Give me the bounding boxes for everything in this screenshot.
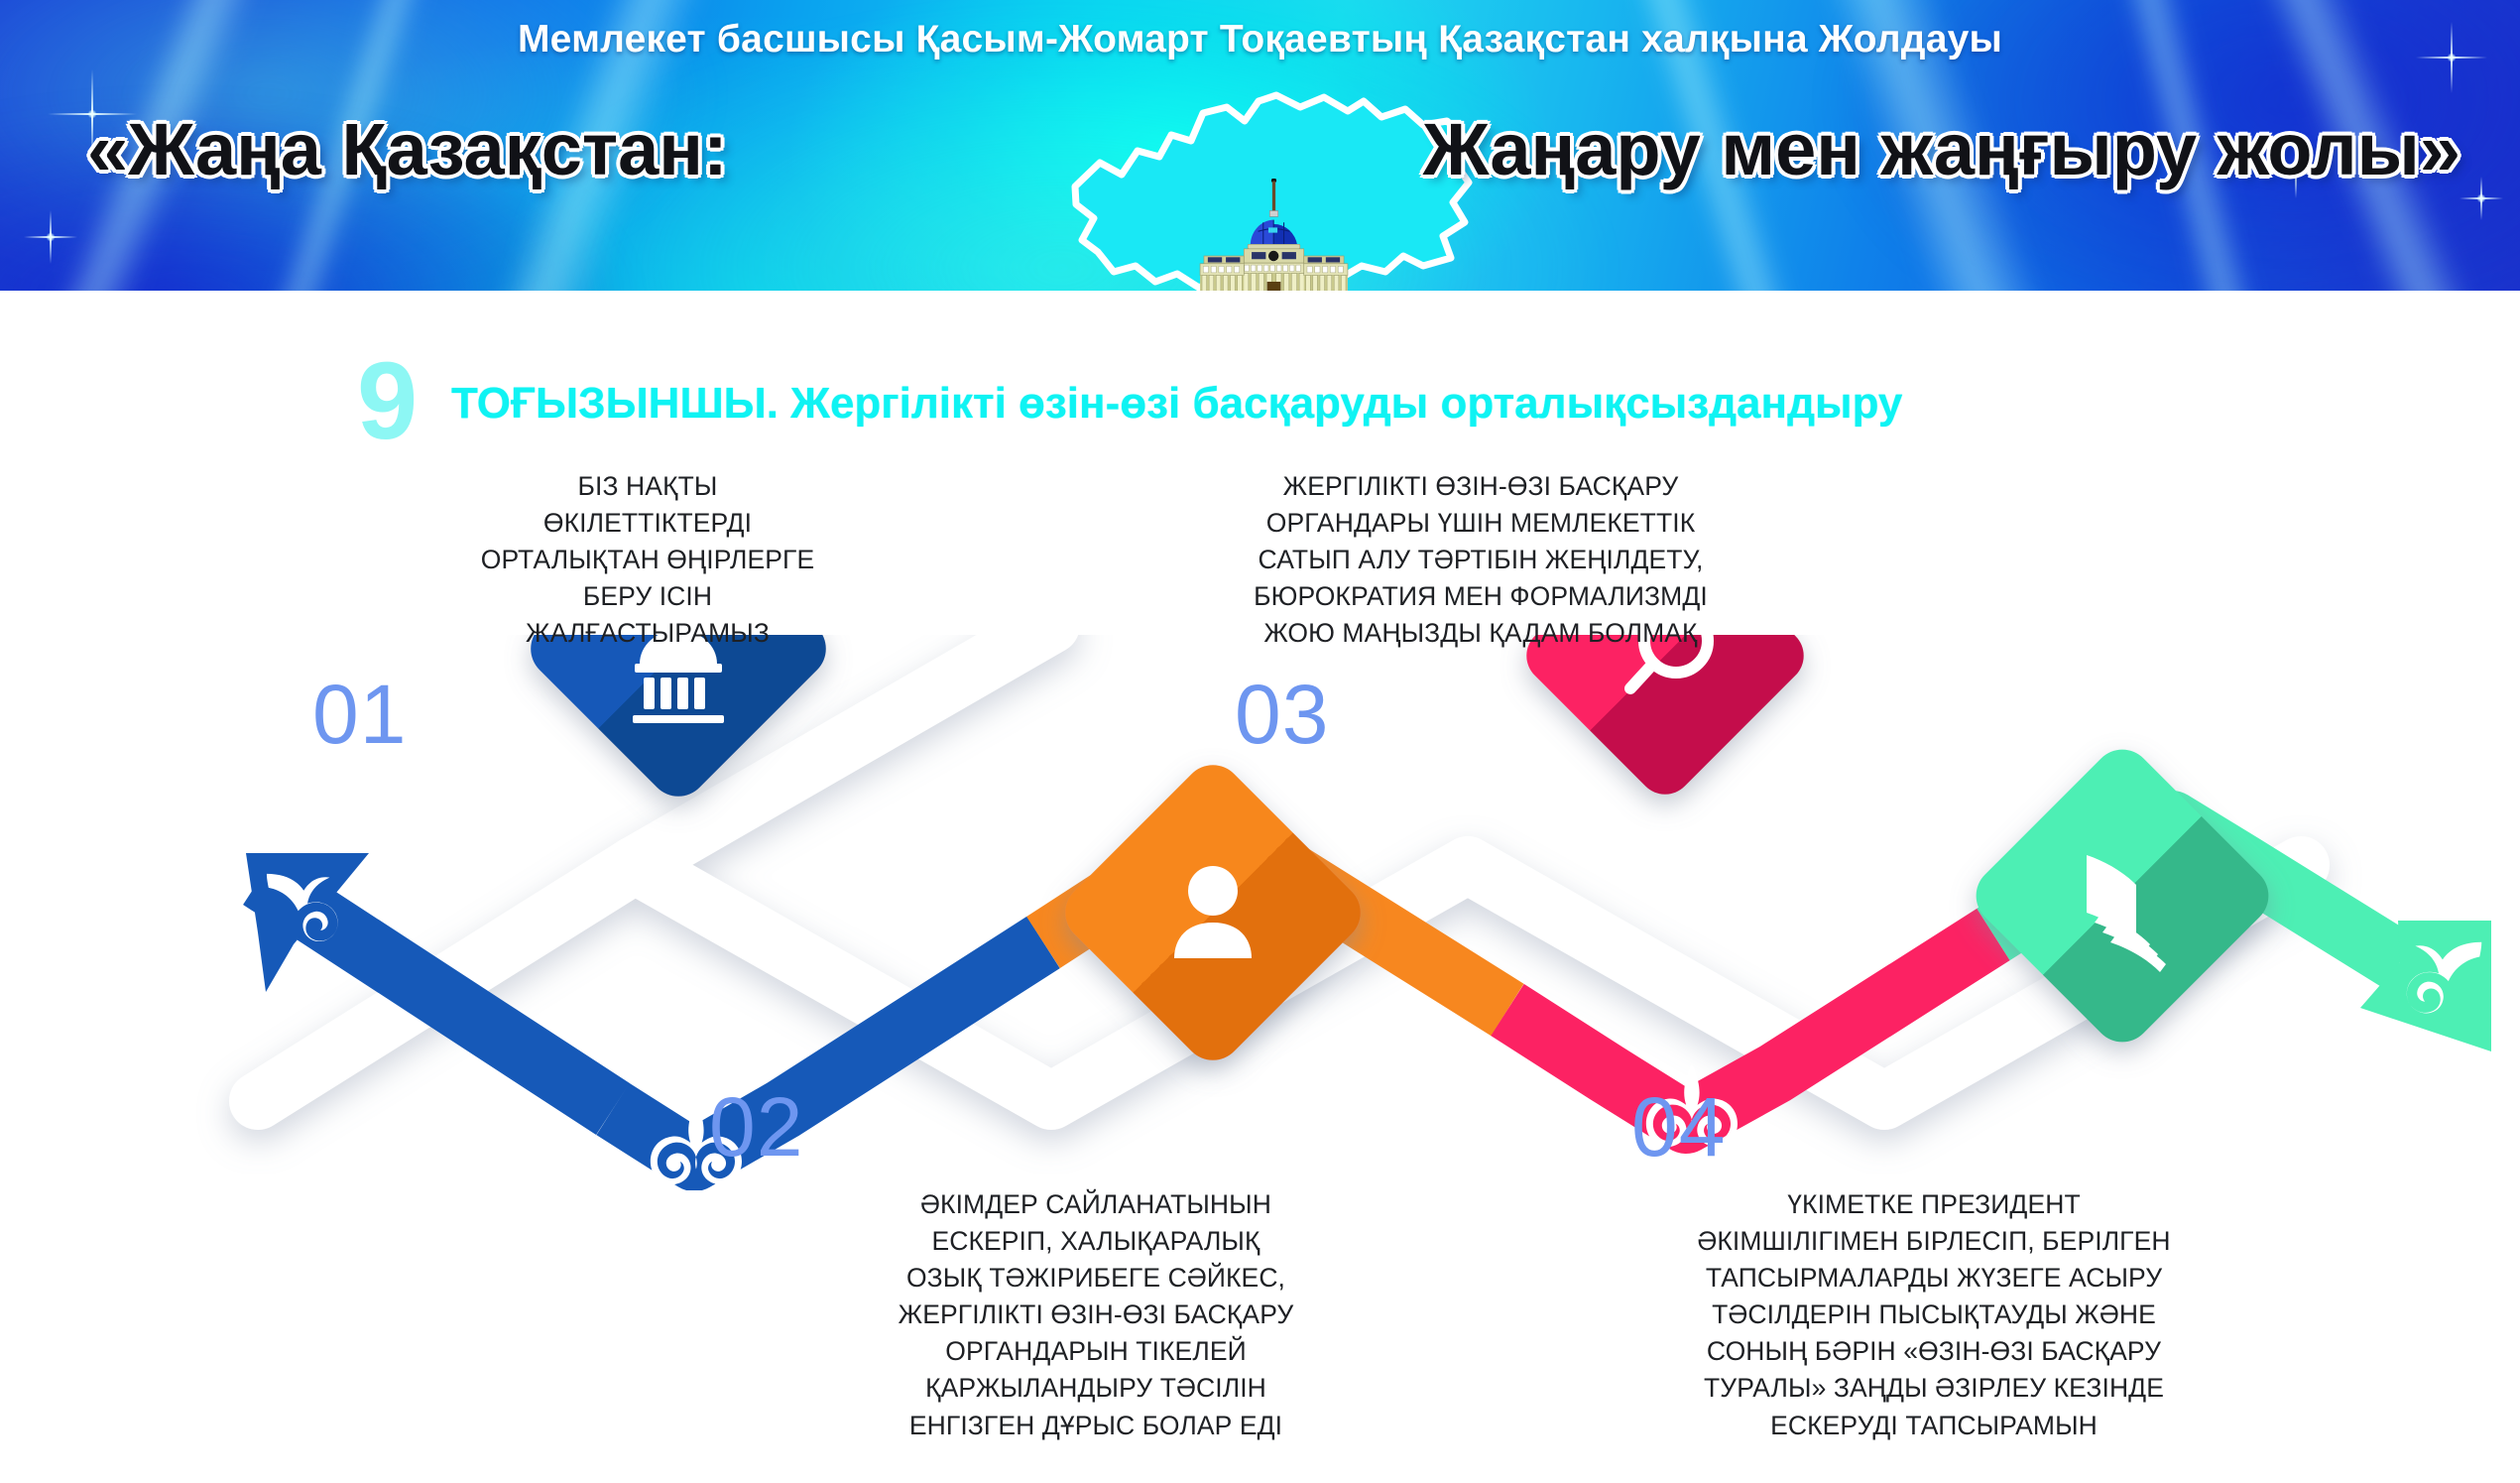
section-number: 9: [357, 352, 418, 450]
sparkle-icon: [24, 210, 77, 264]
header-subtitle: Мемлекет басшысы Қасым-Жомарт Тоқаевтың …: [0, 18, 2520, 62]
akorda-palace-icon: [1133, 179, 1415, 291]
step-text-01: БІЗ НАҚТЫӨКІЛЕТТІКТЕРДІОРТАЛЫҚТАН ӨҢІРЛЕ…: [395, 468, 900, 652]
step-text-03: ЖЕРГІЛІКТІ ӨЗІН-ӨЗІ БАСҚАРУОРГАНДАРЫ ҮШІ…: [1168, 468, 1793, 652]
sparkle-icon: [2460, 177, 2503, 220]
step-number-03: 03: [1235, 667, 1329, 763]
step-number-01: 01: [312, 667, 407, 763]
section-title: ТОҒЫЗЫНШЫ. Жергілікті өзін-өзі басқаруды…: [451, 379, 1902, 429]
step-number-04: 04: [1631, 1079, 1726, 1175]
header-banner: Мемлекет басшысы Қасым-Жомарт Тоқаевтың …: [0, 0, 2520, 291]
step-text-04: ҮКІМЕТКЕ ПРЕЗИДЕНТӘКІМШІЛІГІМЕН БІРЛЕСІП…: [1617, 1186, 2251, 1444]
step-text-02: ӘКІМДЕР САЙЛАНАТЫНЫНЕСКЕРІП, ХАЛЫҚАРАЛЫҚ…: [783, 1186, 1408, 1444]
infographic-page: Мемлекет басшысы Қасым-Жомарт Тоқаевтың …: [0, 0, 2520, 1483]
step-number-02: 02: [709, 1079, 803, 1175]
header-title-left: «Жаңа Қазақстан:: [87, 107, 728, 191]
node-03-diamond[interactable]: [1515, 635, 1816, 805]
header-title-right: Жаңару мен жаңғыру жолы»: [1423, 107, 2460, 191]
